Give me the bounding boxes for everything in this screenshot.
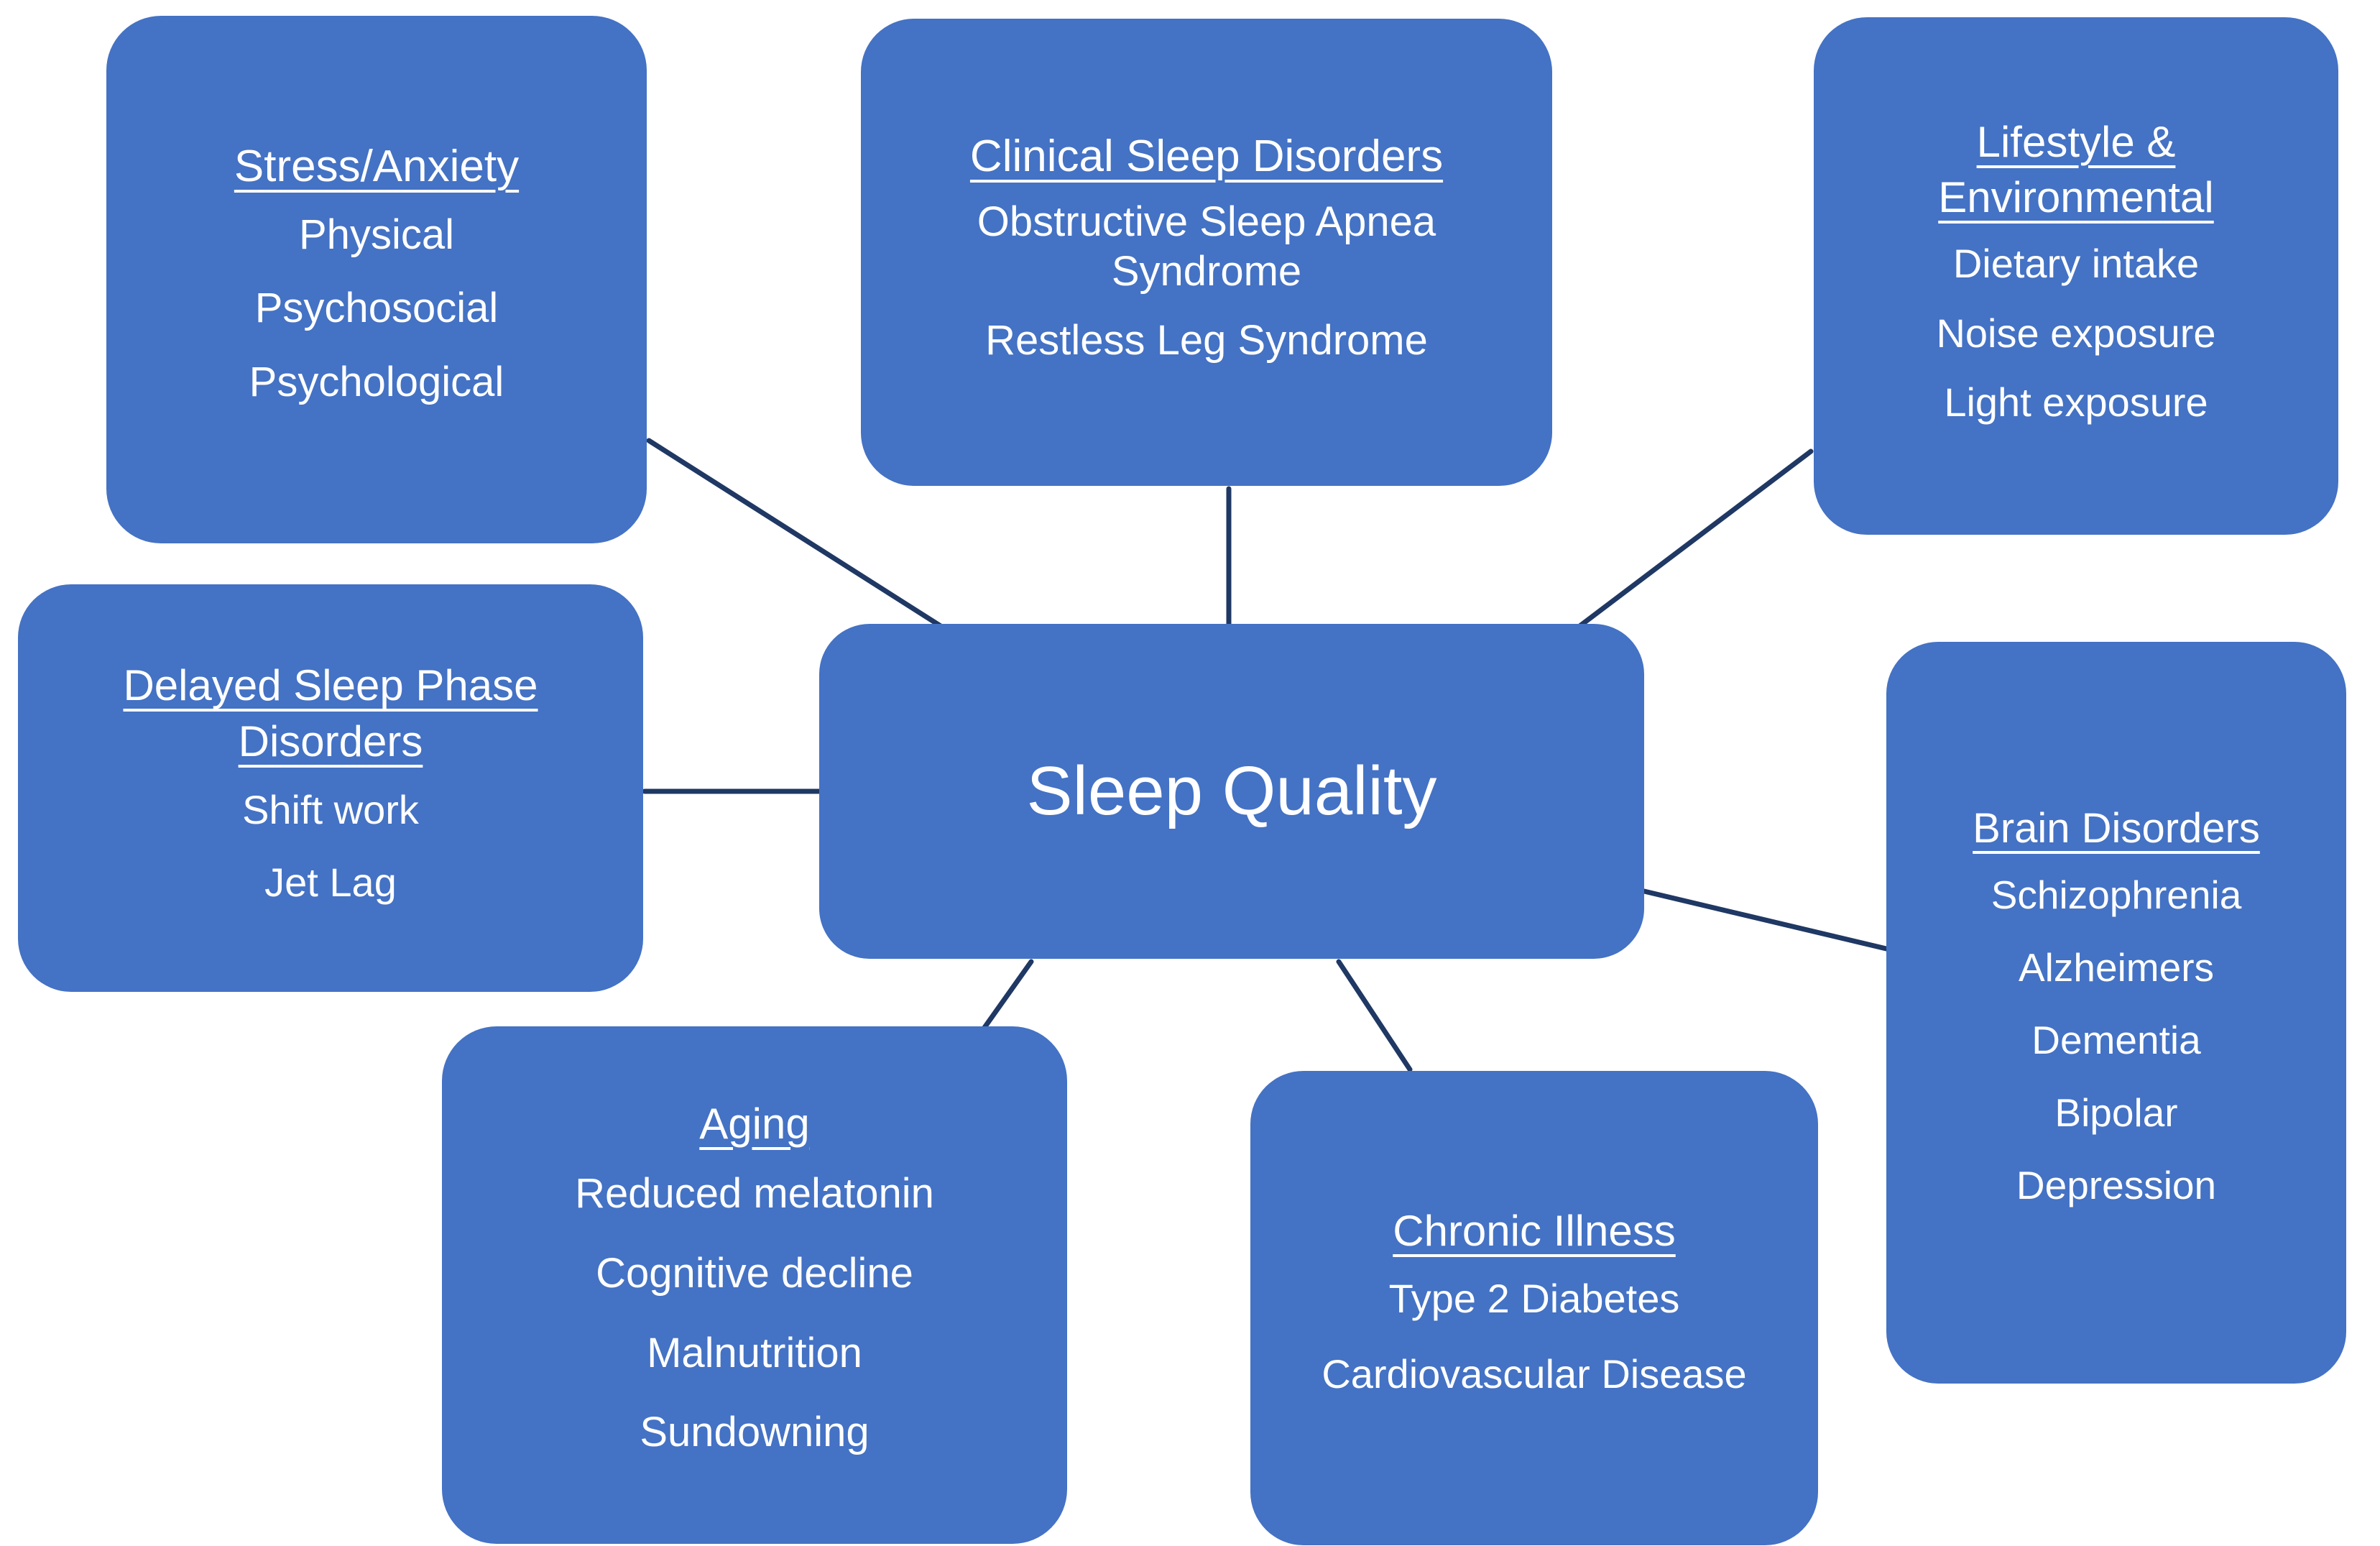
node-title: Lifestyle & Environmental (1938, 115, 2214, 226)
node-title: Stress/Anxiety (234, 139, 519, 194)
node-item: Cognitive decline (596, 1248, 913, 1299)
edge-brain-to-center (1644, 891, 1886, 949)
node-title: Brain Disorders (1973, 804, 2260, 855)
node-title: Delayed Sleep Phase Disorders (123, 658, 538, 770)
node-title: Chronic Illness (1393, 1205, 1676, 1257)
node-item: Alzheimers (2019, 944, 2214, 992)
node-aging[interactable]: Aging Reduced melatonin Cognitive declin… (442, 1026, 1067, 1544)
node-item: Light exposure (1944, 378, 2208, 427)
node-stress-anxiety[interactable]: Stress/Anxiety Physical Psychosocial Psy… (106, 16, 647, 543)
edge-lifestyle-to-center (1552, 451, 1811, 647)
node-item: Reduced melatonin (575, 1169, 934, 1220)
node-chronic-illness[interactable]: Chronic Illness Type 2 Diabetes Cardiova… (1250, 1071, 1818, 1545)
node-item: Malnutrition (647, 1328, 862, 1379)
node-item: Depression (2016, 1161, 2216, 1210)
node-clinical-sleep-disorders[interactable]: Clinical Sleep Disorders Obstructive Sle… (861, 19, 1552, 486)
node-item: Psychosocial (255, 283, 498, 334)
node-item: Type 2 Diabetes (1389, 1274, 1680, 1323)
node-delayed-sleep-phase-disorders[interactable]: Delayed Sleep Phase Disorders Shift work… (18, 584, 643, 992)
node-brain-disorders[interactable]: Brain Disorders Schizophrenia Alzheimers… (1886, 642, 2346, 1384)
node-lifestyle-environmental[interactable]: Lifestyle & Environmental Dietary intake… (1814, 17, 2338, 535)
edge-chronic-to-center (1339, 962, 1410, 1069)
node-item: Physical (299, 210, 454, 261)
node-item: Cardiovascular Disease (1322, 1350, 1746, 1399)
node-title: Clinical Sleep Disorders (970, 129, 1443, 184)
node-item: Obstructive Sleep Apnea Syndrome (977, 198, 1436, 296)
node-item: Dementia (2031, 1016, 2200, 1064)
node-item: Psychological (249, 357, 504, 408)
node-item: Restless Leg Syndrome (985, 316, 1428, 365)
node-item: Schizophrenia (1991, 871, 2242, 919)
node-title: Sleep Quality (1027, 749, 1437, 833)
concept-map-canvas: Stress/Anxiety Physical Psychosocial Psy… (0, 0, 2380, 1546)
node-item: Jet Lag (264, 858, 397, 907)
node-item: Bipolar (2054, 1089, 2177, 1137)
node-item: Sundowning (640, 1407, 869, 1458)
node-item: Shift work (242, 786, 419, 834)
node-item: Noise exposure (1936, 309, 2215, 358)
node-item: Dietary intake (1953, 239, 2199, 288)
node-title: Aging (699, 1098, 809, 1150)
node-sleep-quality-center[interactable]: Sleep Quality (819, 624, 1644, 959)
